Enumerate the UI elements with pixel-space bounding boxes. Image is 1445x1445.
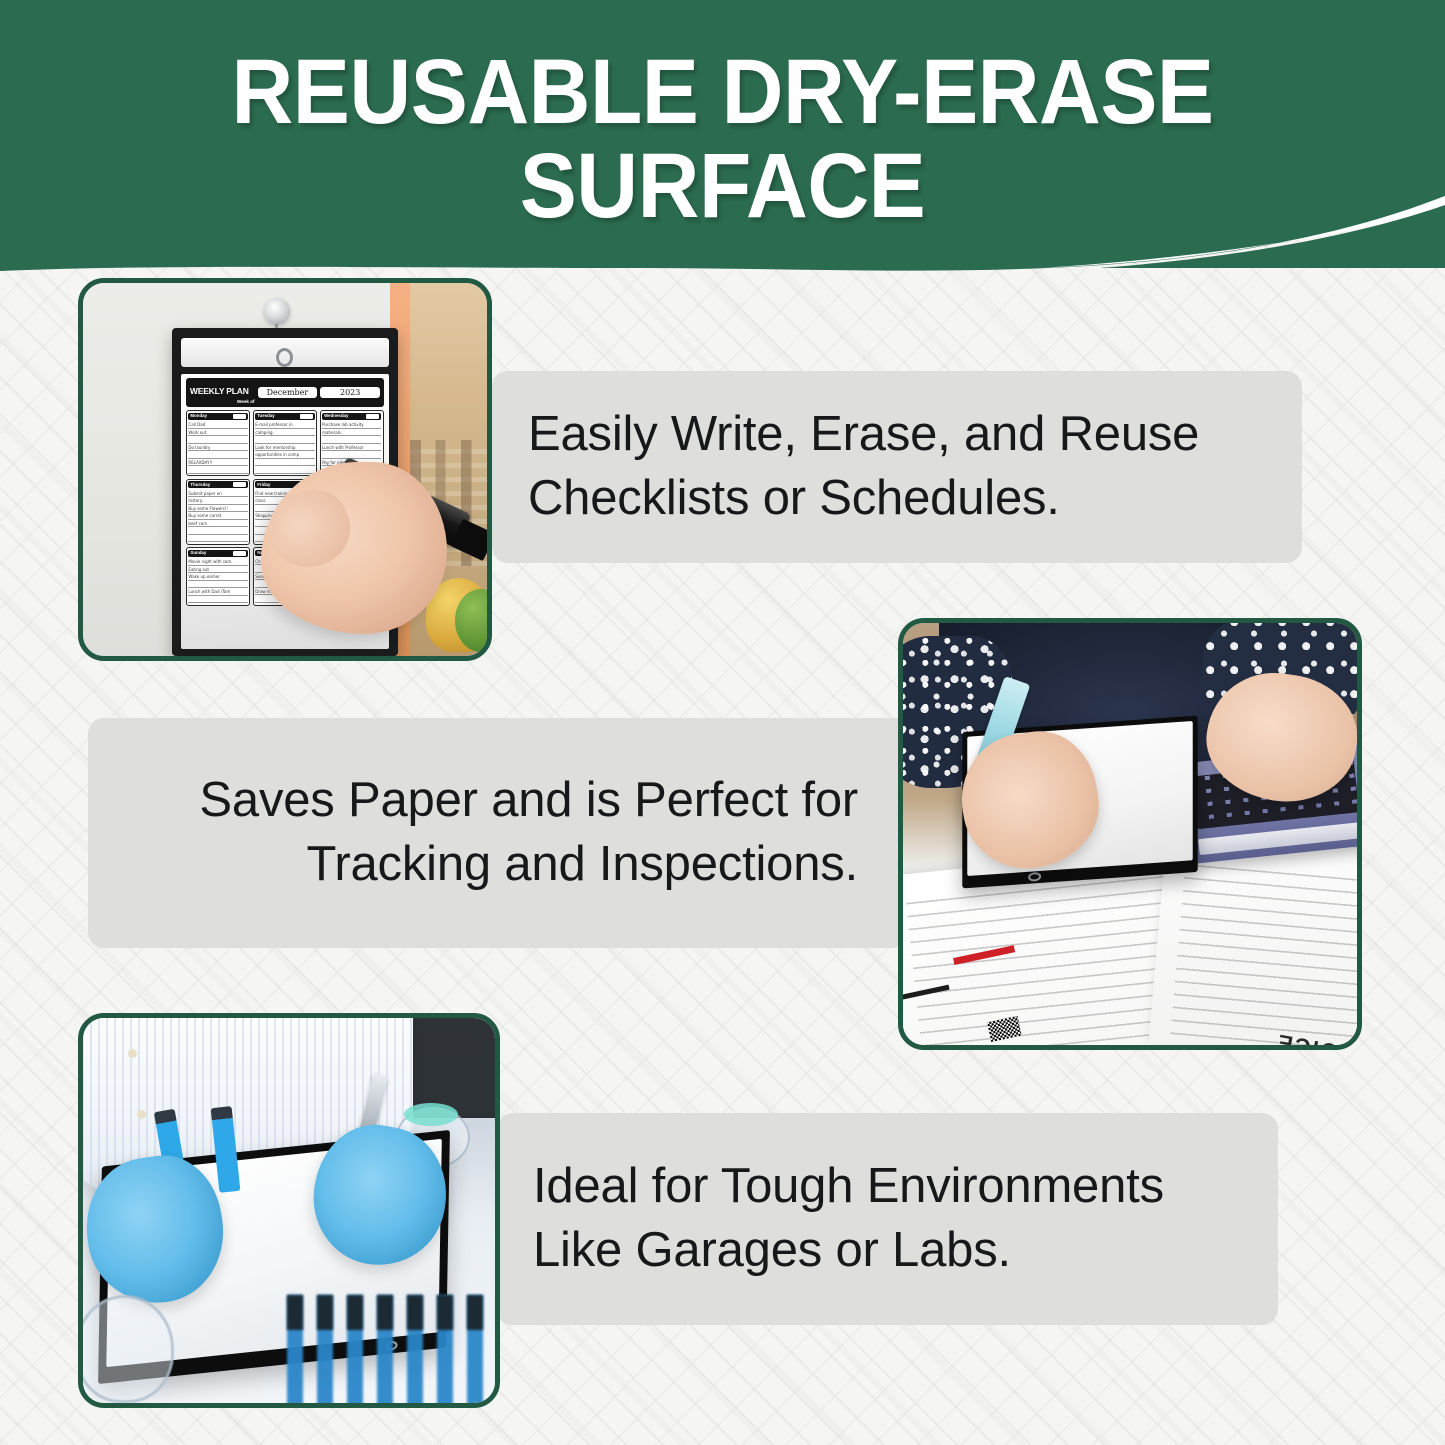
task-line: opportunities in comp	[255, 451, 314, 459]
feature-line-1: Saves Paper and is Perfect for	[88, 769, 858, 833]
task-line	[255, 459, 314, 467]
day-name: Friday	[257, 483, 297, 487]
feature-line-2: Like Garages or Labs.	[533, 1219, 1278, 1283]
day-name: Tuesday	[257, 414, 297, 418]
task-line: Look for mentorship	[255, 444, 314, 452]
feature-line-1: Ideal for Tough Environments	[533, 1155, 1278, 1219]
planner-day-cell: Thursday Submit paper on history. Buy so…	[186, 479, 250, 545]
day-lines: E-mail professor in camping. Look for me…	[255, 421, 314, 474]
task-line	[255, 436, 314, 444]
feature-text: Saves Paper and is Perfect for Tracking …	[88, 769, 858, 896]
day-lines: Call Dad Work out Do laundry RELAXDAY!!	[188, 421, 247, 474]
coat-button	[137, 1110, 146, 1119]
day-header: Monday	[188, 413, 247, 420]
task-line: beef corn.	[188, 520, 247, 528]
photo-lab-scene	[83, 1018, 495, 1403]
infographic-page: REUSABLE DRY-ERASE SURFACE WEEKLY PLAN	[0, 0, 1445, 1445]
feature-panel-write-erase-reuse: Easily Write, Erase, and Reuse Checklist…	[492, 371, 1302, 563]
photo-planner-scene: WEEKLY PLAN Week of December 2023 Monday	[83, 283, 487, 656]
test-tube-caps	[281, 1295, 495, 1330]
task-line: Lunch with Dad /Tom	[188, 588, 247, 596]
day-header: Tuesday	[255, 413, 314, 420]
feature-panel-saves-paper: Saves Paper and is Perfect for Tracking …	[88, 718, 910, 948]
task-line	[188, 535, 247, 543]
task-line: E-mail professor in	[255, 421, 314, 429]
photo-lab	[78, 1013, 500, 1408]
day-lines: Movie night with sam. Eating out Wake up…	[188, 558, 247, 603]
task-line	[188, 436, 247, 444]
page-title: REUSABLE DRY-ERASE SURFACE	[51, 46, 1395, 234]
task-line: Lunch with Professor	[322, 444, 381, 452]
day-header: Sunday	[188, 550, 247, 557]
title-line-2: SURFACE	[51, 140, 1395, 234]
planner-day-cell: Tuesday E-mail professor in camping. Loo…	[253, 410, 317, 476]
task-line	[255, 466, 314, 474]
planner-day-cell: Sunday Movie night with sam. Eating out …	[186, 547, 250, 606]
task-line: Wake up earlier	[188, 573, 247, 581]
task-line	[322, 451, 381, 459]
invoice-rows	[1171, 859, 1357, 1045]
day-lines: Submit paper on history. Buy some Flower…	[188, 490, 247, 543]
planner-year-field: 2023	[320, 387, 380, 398]
photo-invoice: INVOICE	[898, 618, 1362, 1050]
task-line: Call Dad	[188, 421, 247, 429]
planner-subtitle: Week of	[190, 400, 255, 405]
task-line	[188, 596, 247, 604]
task-line: materials.	[322, 429, 381, 437]
day-checkbox	[300, 414, 313, 419]
task-line: Submit paper on	[188, 490, 247, 498]
task-line: Work out	[188, 429, 247, 437]
day-name: Wednesday	[324, 414, 364, 418]
feature-line-2: Tracking and Inspections.	[88, 833, 858, 897]
day-checkbox	[233, 414, 246, 419]
photo-invoice-scene: INVOICE	[903, 623, 1357, 1045]
planner-day-cell: Monday Call Dad Work out Do laundry RELA…	[186, 410, 250, 476]
day-checkbox	[366, 414, 379, 419]
glassware	[83, 1295, 174, 1403]
task-line	[188, 581, 247, 589]
task-line: Purchase lab activity	[322, 421, 381, 429]
day-header: Thursday	[188, 481, 247, 488]
feature-line-2: Checklists or Schedules.	[528, 467, 1302, 531]
task-line: Do laundry	[188, 444, 247, 452]
feature-text: Easily Write, Erase, and Reuse Checklist…	[528, 403, 1302, 530]
planner-title: WEEKLY PLAN	[190, 386, 249, 396]
title-line-1: REUSABLE DRY-ERASE	[51, 46, 1395, 140]
task-line	[188, 451, 247, 459]
task-line: Buy some carrot	[188, 512, 247, 520]
day-name: Sunday	[190, 551, 230, 555]
task-line: Eating out	[188, 566, 247, 574]
feature-line-1: Easily Write, Erase, and Reuse	[528, 403, 1302, 467]
task-line: camping.	[255, 429, 314, 437]
planner-month-field: December	[258, 387, 318, 398]
day-header: Wednesday	[322, 413, 381, 420]
task-line: RELAXDAY!!	[188, 459, 247, 467]
task-line	[188, 466, 247, 474]
task-line	[322, 436, 381, 444]
day-name: Thursday	[190, 483, 230, 487]
day-checkbox	[233, 551, 246, 556]
teal-tool	[404, 1103, 458, 1126]
sleeve-hang-hole-icon	[1028, 872, 1041, 882]
day-name: Monday	[190, 414, 230, 418]
task-line	[188, 527, 247, 535]
task-line: Movie night with sam.	[188, 558, 247, 566]
planner-header: WEEKLY PLAN Week of December 2023	[186, 378, 384, 408]
photo-planner: WEEKLY PLAN Week of December 2023 Monday	[78, 278, 492, 661]
feature-panel-tough-environments: Ideal for Tough Environments Like Garage…	[497, 1113, 1278, 1325]
feature-text: Ideal for Tough Environments Like Garage…	[533, 1155, 1278, 1282]
task-line: history.	[188, 497, 247, 505]
task-line: Buy some Flowers!!	[188, 505, 247, 513]
wall-hook-icon	[264, 298, 290, 324]
day-checkbox	[233, 482, 246, 487]
